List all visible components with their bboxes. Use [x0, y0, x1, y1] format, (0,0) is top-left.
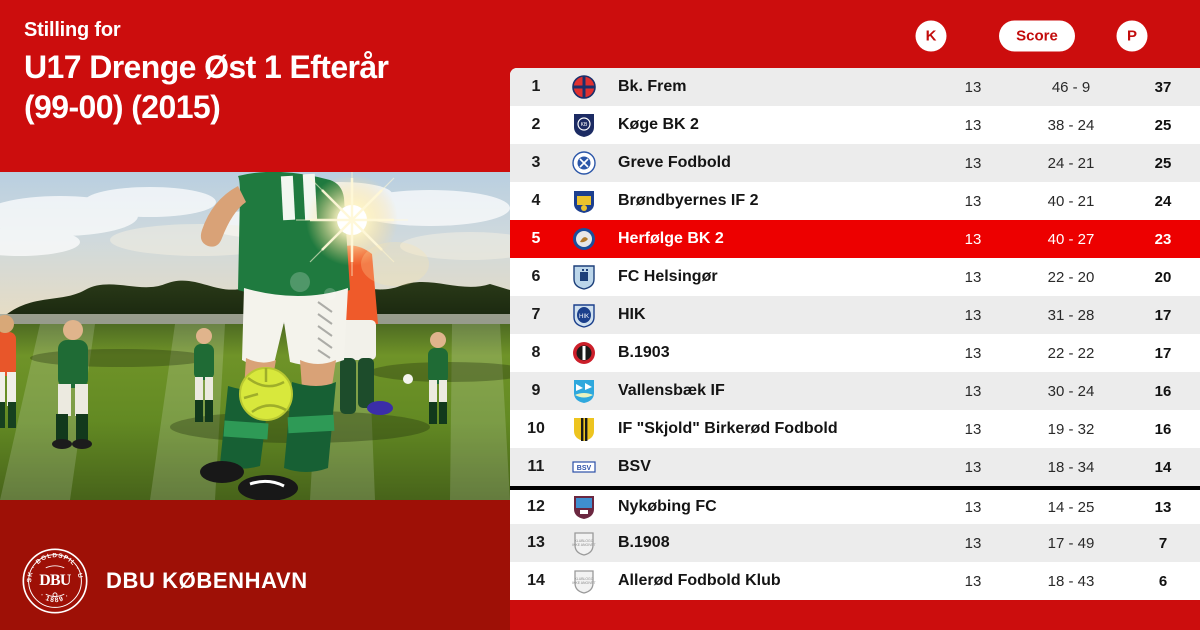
svg-text:IKKE ANGIVET: IKKE ANGIVET — [572, 543, 595, 547]
column-header-k: K — [916, 21, 947, 52]
row-score: 14 - 25 — [1016, 499, 1126, 516]
row-team-name: BSV — [606, 458, 930, 476]
crest-greve-icon — [562, 150, 606, 176]
row-score: 18 - 34 — [1016, 459, 1126, 476]
row-score: 46 - 9 — [1016, 79, 1126, 96]
row-position: 10 — [510, 420, 562, 438]
row-points: 16 — [1126, 383, 1200, 400]
row-score: 40 - 27 — [1016, 231, 1126, 248]
table-row[interactable]: 4 Brøndbyernes IF 2 13 40 - 21 24 — [510, 182, 1200, 220]
svg-text:DBU: DBU — [39, 572, 72, 589]
row-position: 9 — [510, 382, 562, 400]
table-row[interactable]: 6 FC Helsingør 13 22 - 20 20 — [510, 258, 1200, 296]
row-team-name: Herfølge BK 2 — [606, 230, 930, 248]
row-matches: 13 — [930, 535, 1016, 552]
row-points: 24 — [1126, 193, 1200, 210]
row-team-name: Brøndbyernes IF 2 — [606, 192, 930, 210]
crest-helsingor-icon — [562, 264, 606, 290]
table-row[interactable]: 1 Bk. Frem 13 46 - 9 37 — [510, 68, 1200, 106]
crest-skjold-icon — [562, 416, 606, 442]
svg-text:· 1889 ·: · 1889 · — [39, 592, 72, 604]
standings-table: 1 Bk. Frem 13 46 - 9 37 2 KB Køge BK 2 1… — [510, 68, 1200, 600]
table-row[interactable]: 12 Nykøbing FC 13 14 - 25 13 — [510, 486, 1200, 524]
row-position: 12 — [510, 498, 562, 516]
svg-text:HIK: HIK — [579, 314, 589, 320]
row-position: 8 — [510, 344, 562, 362]
crest-vallensbak-icon — [562, 378, 606, 404]
row-score: 19 - 32 — [1016, 421, 1126, 438]
row-team-name: B.1903 — [606, 344, 930, 362]
crest-allerod-icon: KLUBLOGOIKKE ANGIVET — [562, 568, 606, 594]
table-row[interactable]: 9 Vallensbæk IF 13 30 - 24 16 — [510, 372, 1200, 410]
dbu-wordmark: DBU KØBENHAVN — [106, 568, 308, 594]
row-team-name: FC Helsingør — [606, 268, 930, 286]
page-title: U17 Drenge Øst 1 Efterår (99-00) (2015) — [24, 47, 494, 128]
row-score: 38 - 24 — [1016, 117, 1126, 134]
row-team-name: Nykøbing FC — [606, 498, 930, 516]
crest-hik-icon: HIK — [562, 302, 606, 328]
crest-koge-bk-icon: KB — [562, 112, 606, 138]
row-position: 6 — [510, 268, 562, 286]
row-points: 17 — [1126, 345, 1200, 362]
row-matches: 13 — [930, 421, 1016, 438]
left-panel: Stilling for U17 Drenge Øst 1 Efterår (9… — [0, 0, 510, 630]
row-points: 25 — [1126, 117, 1200, 134]
row-matches: 13 — [930, 499, 1016, 516]
row-team-name: Køge BK 2 — [606, 116, 930, 134]
row-points: 13 — [1126, 499, 1200, 516]
row-matches: 13 — [930, 307, 1016, 324]
row-position: 5 — [510, 230, 562, 248]
table-row[interactable]: 3 Greve Fodbold 13 24 - 21 25 — [510, 144, 1200, 182]
row-matches: 13 — [930, 117, 1016, 134]
table-row[interactable]: 7 HIK HIK 13 31 - 28 17 — [510, 296, 1200, 334]
row-team-name: IF "Skjold" Birkerød Fodbold — [606, 420, 930, 438]
row-team-name: Bk. Frem — [606, 78, 930, 96]
column-header-p: P — [1117, 21, 1148, 52]
row-matches: 13 — [930, 383, 1016, 400]
row-team-name: Allerød Fodbold Klub — [606, 572, 930, 590]
crest-brondby-icon — [562, 188, 606, 214]
crest-herfolge-icon — [562, 226, 606, 252]
crest-bsv-icon: BSV — [562, 454, 606, 480]
column-header-score: Score — [999, 21, 1075, 52]
title-block: Stilling for U17 Drenge Øst 1 Efterår (9… — [24, 18, 494, 128]
row-matches: 13 — [930, 573, 1016, 590]
crest-bk-frem-icon — [562, 74, 606, 100]
row-score: 31 - 28 — [1016, 307, 1126, 324]
row-position: 2 — [510, 116, 562, 134]
row-score: 17 - 49 — [1016, 535, 1126, 552]
page-title-line1: U17 Drenge Øst 1 Efterår — [24, 47, 494, 87]
row-matches: 13 — [930, 459, 1016, 476]
row-position: 1 — [510, 78, 562, 96]
row-position: 7 — [510, 306, 562, 324]
row-points: 17 — [1126, 307, 1200, 324]
crest-nykobing-icon — [562, 494, 606, 520]
standings-graphic: Stilling for U17 Drenge Øst 1 Efterår (9… — [0, 0, 1200, 630]
row-team-name: B.1908 — [606, 534, 930, 552]
row-position: 3 — [510, 154, 562, 172]
row-score: 22 - 22 — [1016, 345, 1126, 362]
row-matches: 13 — [930, 345, 1016, 362]
row-points: 23 — [1126, 231, 1200, 248]
eyebrow-label: Stilling for — [24, 18, 494, 42]
row-position: 13 — [510, 534, 562, 552]
row-points: 7 — [1126, 535, 1200, 552]
row-points: 6 — [1126, 573, 1200, 590]
row-position: 11 — [510, 458, 562, 476]
row-points: 14 — [1126, 459, 1200, 476]
row-score: 22 - 20 — [1016, 269, 1126, 286]
table-header-pills: K Score P — [510, 0, 1200, 68]
table-row[interactable]: 14 KLUBLOGOIKKE ANGIVET Allerød Fodbold … — [510, 562, 1200, 600]
row-matches: 13 — [930, 269, 1016, 286]
table-row[interactable]: 10 IF "Skjold" Birkerød Fodbold 13 19 - … — [510, 410, 1200, 448]
table-row[interactable]: 8 B.1903 13 22 - 22 17 — [510, 334, 1200, 372]
svg-text:KB: KB — [581, 122, 588, 128]
row-team-name: Greve Fodbold — [606, 154, 930, 172]
row-position: 14 — [510, 572, 562, 590]
row-score: 30 - 24 — [1016, 383, 1126, 400]
crest-b1908-icon: KLUBLOGOIKKE ANGIVET — [562, 530, 606, 556]
row-points: 20 — [1126, 269, 1200, 286]
svg-text:IKKE ANGIVET: IKKE ANGIVET — [572, 581, 595, 585]
row-matches: 13 — [930, 193, 1016, 210]
row-team-name: Vallensbæk IF — [606, 382, 930, 400]
row-points: 25 — [1126, 155, 1200, 172]
row-matches: 13 — [930, 155, 1016, 172]
row-score: 18 - 43 — [1016, 573, 1126, 590]
row-score: 24 - 21 — [1016, 155, 1126, 172]
svg-text:BSV: BSV — [577, 465, 592, 472]
row-points: 37 — [1126, 79, 1200, 96]
row-points: 16 — [1126, 421, 1200, 438]
dbu-seal-icon: DANSK · BOLDSPIL · UNION · 1889 · DBU — [22, 548, 88, 614]
table-row[interactable]: 11 BSV BSV 13 18 - 34 14 — [510, 448, 1200, 486]
table-row[interactable]: 2 KB Køge BK 2 13 38 - 24 25 — [510, 106, 1200, 144]
row-score: 40 - 21 — [1016, 193, 1126, 210]
crest-b1903-icon — [562, 340, 606, 366]
row-matches: 13 — [930, 79, 1016, 96]
row-team-name: HIK — [606, 306, 930, 324]
football-photo — [0, 172, 510, 500]
table-row[interactable]: 5 Herfølge BK 2 13 40 - 27 23 — [510, 220, 1200, 258]
dbu-logo-lockup: DANSK · BOLDSPIL · UNION · 1889 · DBU DB… — [22, 548, 308, 614]
table-row[interactable]: 13 KLUBLOGOIKKE ANGIVET B.1908 13 17 - 4… — [510, 524, 1200, 562]
page-title-line2: (99-00) (2015) — [24, 87, 494, 127]
row-position: 4 — [510, 192, 562, 210]
row-matches: 13 — [930, 231, 1016, 248]
